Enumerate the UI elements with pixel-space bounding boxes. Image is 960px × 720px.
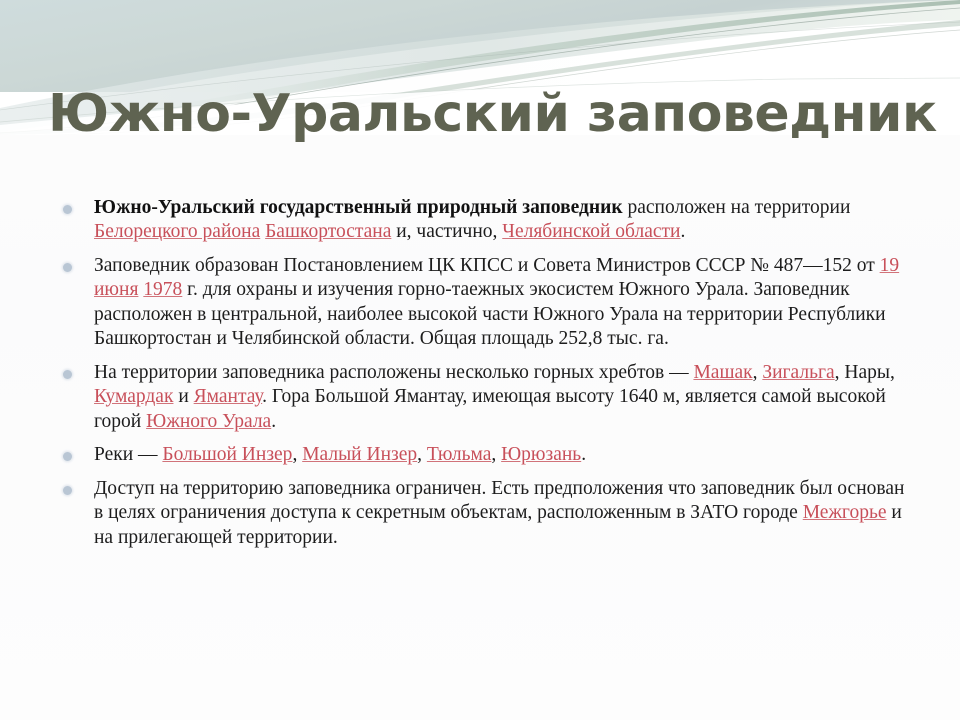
bullet-text: Доступ на территорию заповедника огранич… — [94, 478, 904, 548]
list-item-bullet-1: Южно-Уральский государственный природный… — [56, 196, 912, 245]
hyperlink[interactable]: Ямантау — [194, 386, 263, 407]
hyperlink[interactable]: Тюльма — [427, 444, 492, 465]
body-text: и, частично, — [391, 221, 502, 242]
body-text: На территории заповедника расположены не… — [94, 362, 693, 383]
emphasis-text: Южно-Уральский государственный природный… — [94, 197, 623, 218]
page-title: Южно-Уральский заповедник — [48, 87, 928, 142]
body-text: г. для охраны и изучения горно-таежных э… — [94, 279, 886, 349]
presentation-slide: Южно-Уральский заповедник Южно-Уральский… — [0, 0, 960, 720]
body-text: . — [271, 411, 276, 432]
body-text: и — [173, 386, 193, 407]
body-text: , Нары, — [835, 362, 895, 383]
body-text: Заповедник образован Постановлением ЦК К… — [94, 255, 880, 276]
body-text: , — [417, 444, 427, 465]
bullet-text: Южно-Уральский государственный природный… — [94, 197, 850, 242]
hyperlink[interactable]: Машак — [693, 362, 752, 383]
hyperlink[interactable]: Малый Инзер — [302, 444, 417, 465]
bullet-text: На территории заповедника расположены не… — [94, 362, 895, 432]
hyperlink[interactable]: Межгорье — [803, 502, 887, 523]
list-item-bullet-4: Реки — Большой Инзер, Малый Инзер, Тюльм… — [56, 443, 912, 467]
hyperlink[interactable]: Белорецкого района — [94, 221, 260, 242]
hyperlink[interactable]: Большой Инзер — [162, 444, 292, 465]
bullet-dot-icon — [63, 452, 72, 461]
hyperlink[interactable]: Зигальга — [762, 362, 834, 383]
bullet-dot-icon — [63, 263, 72, 272]
body-text: . — [680, 221, 685, 242]
bullet-text: Заповедник образован Постановлением ЦК К… — [94, 255, 899, 349]
body-text: . — [581, 444, 586, 465]
body-text: Доступ на территорию заповедника огранич… — [94, 478, 904, 523]
slide-body: Южно-Уральский государственный природный… — [56, 196, 912, 550]
body-text: , — [753, 362, 763, 383]
list-item-bullet-2: Заповедник образован Постановлением ЦК К… — [56, 254, 912, 352]
body-text: Реки — — [94, 444, 162, 465]
hyperlink[interactable]: Кумардак — [94, 386, 173, 407]
bullet-list: Южно-Уральский государственный природный… — [56, 196, 912, 550]
bullet-dot-icon — [63, 486, 72, 495]
list-item-bullet-3: На территории заповедника расположены не… — [56, 361, 912, 434]
hyperlink[interactable]: 1978 — [143, 279, 182, 300]
body-text: , — [292, 444, 302, 465]
bullet-text: Реки — Большой Инзер, Малый Инзер, Тюльм… — [94, 444, 586, 465]
bullet-dot-icon — [63, 370, 72, 379]
body-text: , — [491, 444, 501, 465]
hyperlink[interactable]: Челябинской области — [502, 221, 680, 242]
hyperlink[interactable]: Южного Урала — [146, 411, 271, 432]
bullet-dot-icon — [63, 205, 72, 214]
list-item-bullet-5: Доступ на территорию заповедника огранич… — [56, 477, 912, 550]
body-text: расположен на территории — [623, 197, 851, 218]
hyperlink[interactable]: Юрюзань — [501, 444, 581, 465]
hyperlink[interactable]: Башкортостана — [265, 221, 391, 242]
